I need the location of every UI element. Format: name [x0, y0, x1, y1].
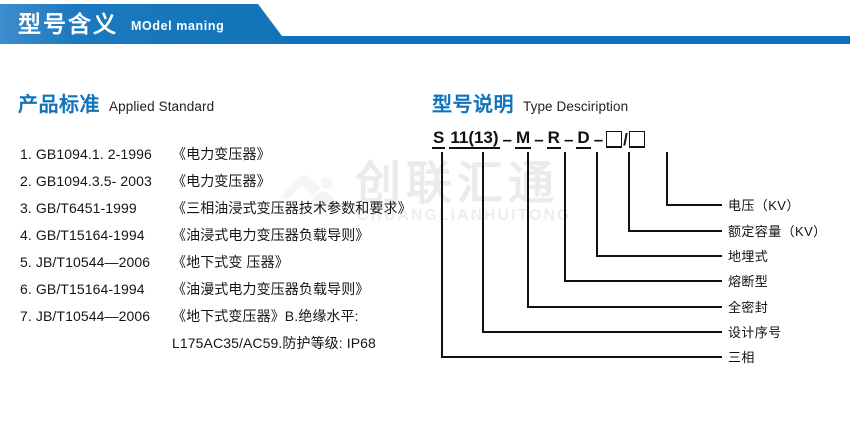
section-heading-cn: 产品标准: [18, 88, 100, 117]
standard-name: 《电力变压器》: [172, 144, 271, 164]
standard-code: 2. GB1094.3.5- 2003: [20, 173, 172, 189]
list-item: 2. GB1094.3.5- 2003 《电力变压器》: [20, 171, 430, 198]
standard-name: 《油浸式电力变压器负载导则》: [172, 225, 369, 245]
standard-code: 7. JB/T10544—2006: [20, 308, 172, 324]
leader-label-capacity: 额定容量（KV）: [728, 225, 827, 238]
list-item: 5. JB/T10544—2006 《地下式变 压器》: [20, 252, 430, 279]
list-item: 7. JB/T10544—2006 《地下式变压器》B.绝缘水平:: [20, 306, 430, 333]
standard-name: 《地下式变 压器》: [172, 252, 289, 272]
list-item: 4. GB/T15164-1994 《油浸式电力变压器负载导则》: [20, 225, 430, 252]
model-code-row: S 11(13) – M – R – D – /: [432, 126, 645, 152]
leader-label-voltage: 电压（KV）: [728, 199, 800, 212]
standard-code: 1. GB1094.1. 2-1996: [20, 146, 172, 162]
section-heading-en: Type Desciription: [523, 99, 628, 114]
list-item: 1. GB1094.1. 2-1996 《电力变压器》: [20, 144, 430, 171]
section-heading-cn: 型号说明: [432, 88, 514, 117]
model-dash: –: [500, 132, 515, 147]
list-item: 6. GB/T15164-1994 《油漫式电力变压器负载导则》: [20, 279, 430, 306]
standard-code: 4. GB/T15164-1994: [20, 227, 172, 243]
model-placeholder-box-2: [629, 131, 645, 148]
model-dash: –: [531, 132, 546, 147]
section-heading-type-description: 型号说明 Type Desciription: [432, 88, 628, 117]
header-title-group: 型号含义 MOdel maning: [0, 4, 288, 44]
page-header-banner: 型号含义 MOdel maning: [0, 0, 850, 52]
model-placeholder-box-1: [606, 131, 622, 148]
model-segment-r: R: [547, 130, 561, 149]
model-segment-s: S: [432, 130, 445, 149]
section-heading-applied-standard: 产品标准 Applied Standard: [18, 88, 214, 117]
leader-label-phase: 三相: [728, 351, 755, 364]
standard-code: 5. JB/T10544—2006: [20, 254, 172, 270]
model-segment-d: D: [576, 130, 590, 149]
model-segment-series: 11(13): [449, 130, 499, 149]
standard-code: 3. GB/T6451-1999: [20, 200, 172, 216]
leader-label-design-no: 设计序号: [728, 326, 782, 339]
list-item: 3. GB/T6451-1999 《三相油浸式变压器技术参数和要求》: [20, 198, 430, 225]
header-title-en: MOdel maning: [131, 15, 224, 33]
model-dash: –: [591, 132, 606, 147]
leader-label-buried: 地埋式: [728, 250, 768, 263]
standards-list: 1. GB1094.1. 2-1996 《电力变压器》 2. GB1094.3.…: [20, 144, 430, 360]
standard-name: 《三相油浸式变压器技术参数和要求》: [172, 198, 412, 218]
standard-name: 《油漫式电力变压器负载导则》: [172, 279, 369, 299]
header-title-cn: 型号含义: [18, 13, 118, 36]
standard-name: 《电力变压器》: [172, 171, 271, 191]
model-dash: –: [561, 132, 576, 147]
model-segment-m: M: [515, 130, 531, 149]
standard-name: 《地下式变压器》B.绝缘水平:: [172, 306, 359, 326]
section-heading-en: Applied Standard: [109, 99, 214, 114]
standard-continuation-line: L175AC35/AC59.防护等级: IP68: [20, 333, 430, 360]
leader-label-sealed: 全密封: [728, 301, 768, 314]
model-slash: /: [622, 132, 629, 147]
leader-label-fuse: 熔断型: [728, 275, 768, 288]
standard-code: 6. GB/T15164-1994: [20, 281, 172, 297]
